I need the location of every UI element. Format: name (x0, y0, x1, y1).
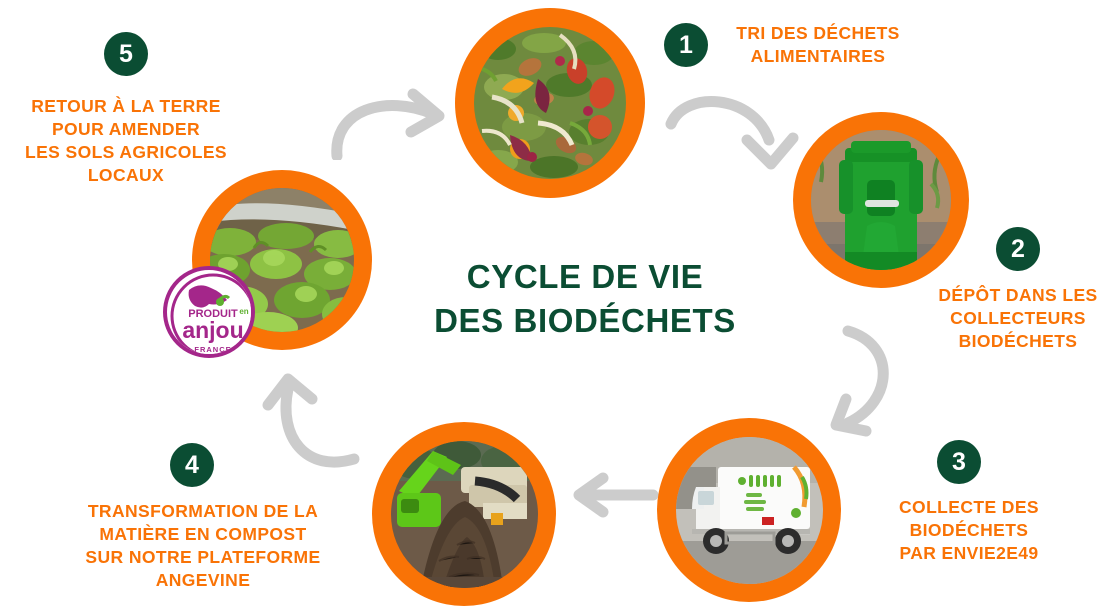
step-1-number: 1 (679, 31, 693, 60)
step-2-number-badge: 2 (996, 227, 1040, 271)
logo-france-text: • FRANCE • (188, 345, 239, 354)
arrow-step4-to-step5 (258, 355, 373, 480)
page-title: CYCLE DE VIE DES BIODÉCHETS (400, 255, 770, 343)
compost-platform-photo (391, 441, 538, 588)
step-1-caption: TRI DES DÉCHETS ALIMENTAIRES (698, 22, 938, 68)
logo-en-text: en (239, 307, 248, 316)
step-4-caption: TRANSFORMATION DE LA MATIÈRE EN COMPOST … (58, 500, 348, 592)
step-3-number-badge: 3 (937, 440, 981, 484)
food-waste-photo (474, 27, 626, 179)
green-bin-photo (811, 130, 951, 270)
step-5-number: 5 (119, 40, 133, 69)
step-2-photo-circle (793, 112, 969, 288)
step-2-number: 2 (1011, 235, 1025, 264)
arrow-step3-to-step4 (565, 472, 665, 518)
step-4-number: 4 (185, 451, 199, 480)
produit-en-anjou-logo: PRODUIT en anjou • FRANCE • (163, 266, 255, 358)
biowaste-lifecycle-infographic: 1 TRI DES DÉCHETS ALIMENTAIRES (0, 0, 1118, 612)
step-4-photo-circle (372, 422, 556, 606)
step-2-caption: DÉPÔT DANS LES COLLECTEURS BIODÉCHETS (898, 284, 1118, 353)
step-5-number-badge: 5 (104, 32, 148, 76)
step-3-number: 3 (952, 448, 966, 477)
step-3-caption: COLLECTE DES BIODÉCHETS PAR ENVIE2E49 (860, 496, 1078, 565)
step-1-photo-circle (455, 8, 645, 198)
logo-anjou-text: anjou (182, 317, 243, 343)
envie-truck-photo: e (676, 437, 823, 584)
step-5-caption: RETOUR À LA TERRE POUR AMENDER LES SOLS … (5, 95, 247, 187)
step-3-photo-circle: e (657, 418, 841, 602)
step-4-number-badge: 4 (170, 443, 214, 487)
arrow-step5-to-step1 (325, 80, 465, 160)
arrow-step1-to-step2 (663, 92, 808, 192)
